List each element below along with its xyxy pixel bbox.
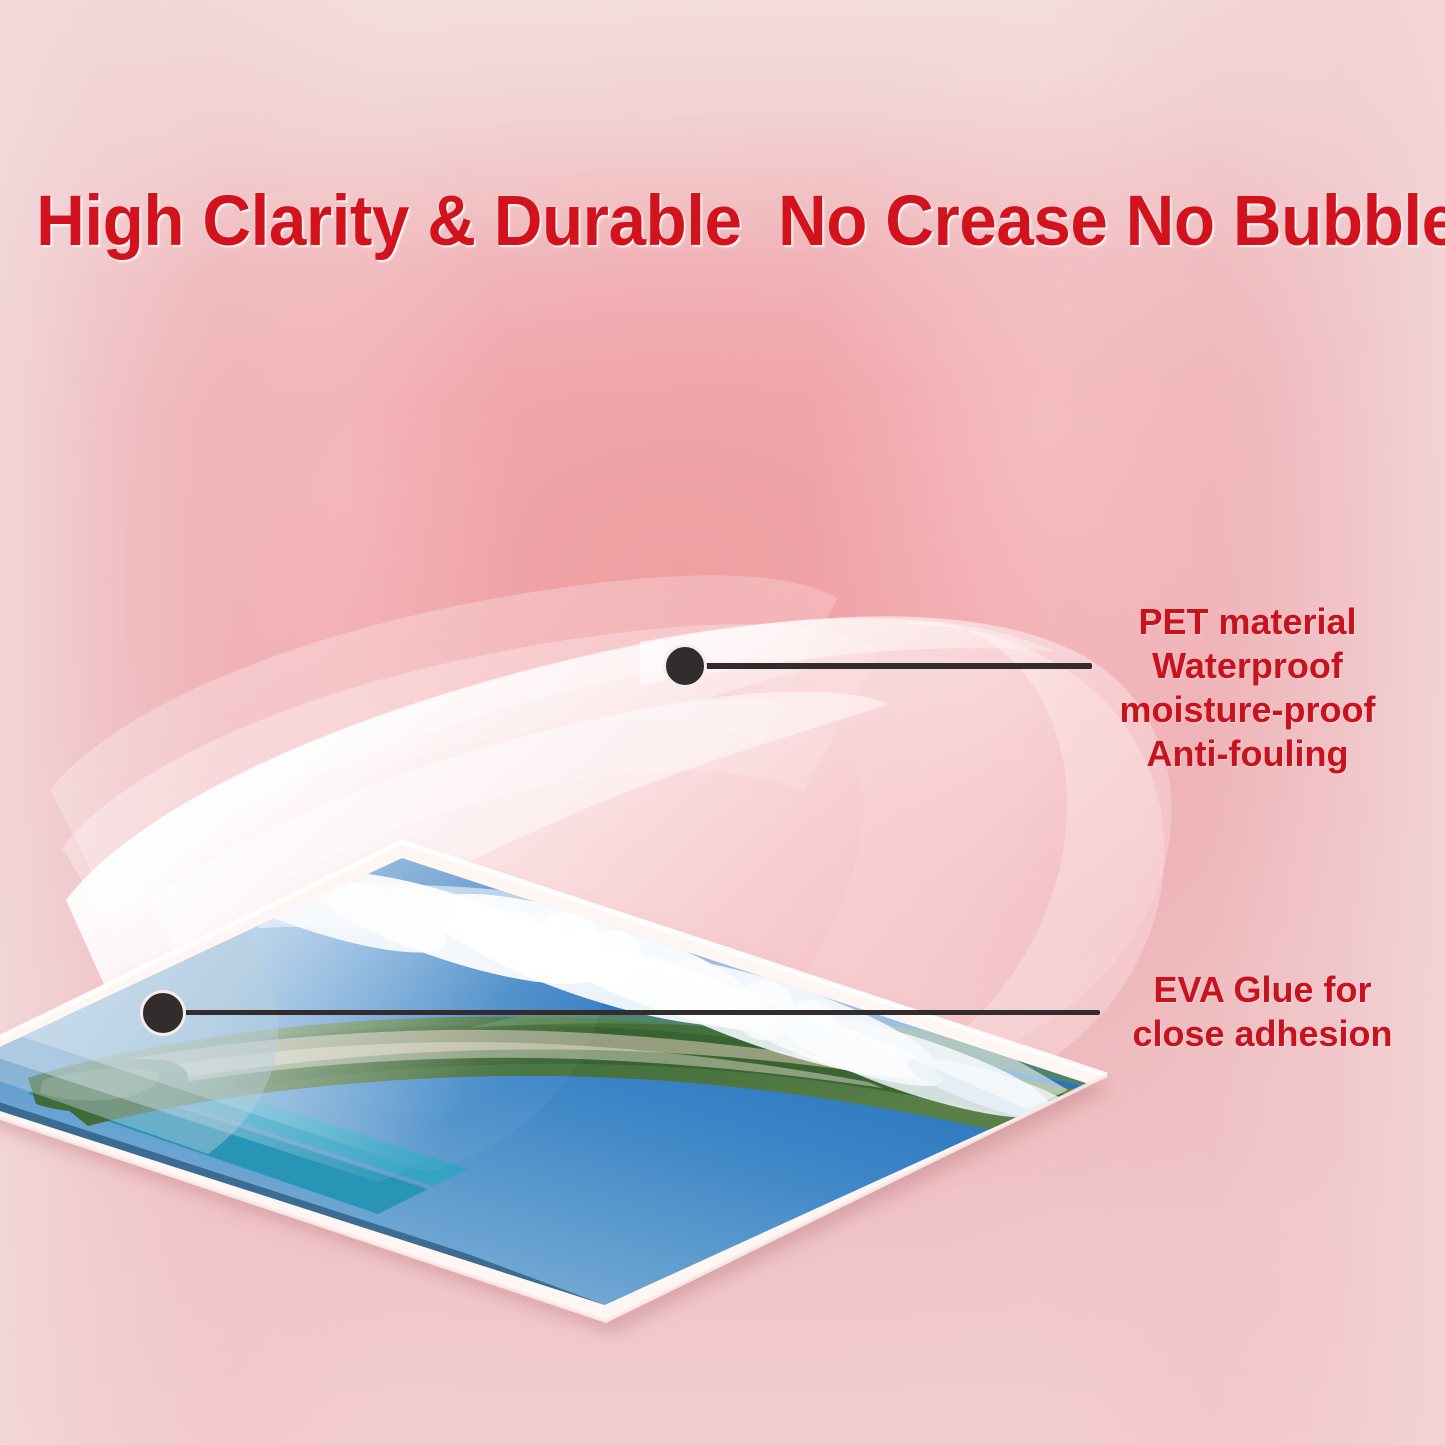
pet-callout-label: PET material Waterproof moisture-proof A… — [1060, 600, 1435, 776]
infographic-canvas: High Clarity & Durable No Crease No Bubb… — [0, 0, 1445, 1445]
eva-marker-dot — [140, 990, 186, 1036]
headline-text: High Clarity & Durable No Crease No Bubb… — [36, 186, 1409, 257]
eva-leader-line — [170, 1010, 1100, 1015]
pet-leader-line — [694, 663, 1092, 669]
pet-marker-dot — [663, 644, 707, 688]
eva-callout-label: EVA Glue for close adhesion — [1090, 968, 1435, 1056]
